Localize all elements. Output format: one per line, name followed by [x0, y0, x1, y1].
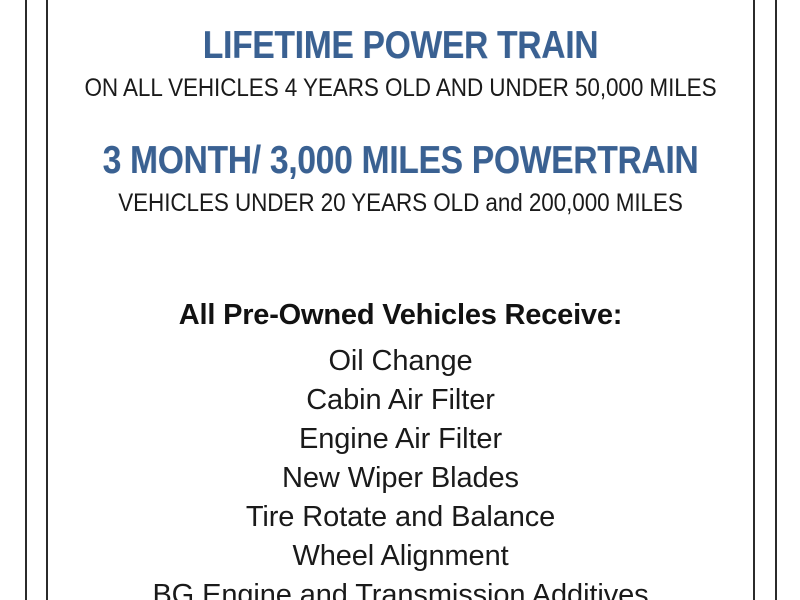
service-item: Cabin Air Filter: [48, 381, 753, 420]
warranty-block-lifetime: LIFETIME POWER TRAIN ON ALL VEHICLES 4 Y…: [48, 26, 753, 103]
frame-rule-right-inner: [753, 0, 755, 600]
warranty-block-3month: 3 MONTH/ 3,000 MILES POWERTRAIN VEHICLES…: [48, 141, 753, 218]
lifetime-powertrain-subline: ON ALL VEHICLES 4 YEARS OLD AND UNDER 50…: [83, 75, 718, 103]
service-item: Oil Change: [48, 342, 753, 381]
flyer-content: LIFETIME POWER TRAIN ON ALL VEHICLES 4 Y…: [48, 0, 753, 600]
service-item: New Wiper Blades: [48, 459, 753, 498]
three-month-powertrain-headline: 3 MONTH/ 3,000 MILES POWERTRAIN: [97, 141, 703, 180]
flyer-page: LIFETIME POWER TRAIN ON ALL VEHICLES 4 Y…: [0, 0, 800, 600]
frame-rule-left-outer: [25, 0, 27, 600]
service-item: Engine Air Filter: [48, 420, 753, 459]
services-section: All Pre-Owned Vehicles Receive: Oil Chan…: [48, 301, 753, 600]
service-item: Tire Rotate and Balance: [48, 498, 753, 537]
service-item: Wheel Alignment: [48, 537, 753, 576]
services-list: Oil Change Cabin Air Filter Engine Air F…: [48, 342, 753, 600]
lifetime-powertrain-headline: LIFETIME POWER TRAIN: [97, 26, 703, 65]
services-section-title: All Pre-Owned Vehicles Receive:: [48, 301, 753, 330]
frame-rule-right-outer: [775, 0, 777, 600]
service-item: BG Engine and Transmission Additives: [48, 576, 753, 600]
three-month-powertrain-subline: VEHICLES UNDER 20 YEARS OLD and 200,000 …: [83, 190, 718, 218]
